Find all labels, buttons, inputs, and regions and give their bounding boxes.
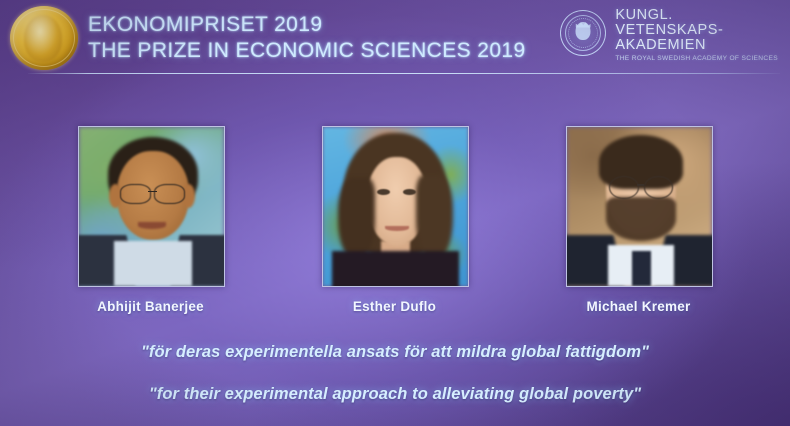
academy-line-2: VETENSKAPS- [615, 23, 778, 38]
portrait-photo-abhijit-banerjee [78, 126, 225, 287]
portrait-1-glasses-right [154, 184, 185, 203]
citation-english: "for their experimental approach to alle… [0, 385, 790, 404]
laureate-name-2: Esther Duflo [322, 299, 467, 314]
academy-subtitle: THE ROYAL SWEDISH ACADEMY OF SCIENCES [615, 55, 778, 62]
royal-swedish-academy-seal-icon [560, 10, 606, 56]
portrait-1-glasses-left [120, 184, 151, 203]
portrait-3-glasses-bridge [637, 184, 644, 186]
portrait-1-shirt [114, 241, 192, 286]
title-line-swedish: EKONOMIPRISET 2019 [88, 14, 526, 37]
portrait-photo-michael-kremer [566, 126, 713, 287]
portrait-1-mouth [138, 222, 166, 228]
laureate-name-1: Abhijit Banerjee [78, 299, 223, 314]
laureate-card-1: Abhijit Banerjee [78, 126, 225, 314]
portrait-2-hair-left [338, 178, 376, 261]
portrait-3-tie [632, 251, 651, 286]
academy-name-block: KUNGL. VETENSKAPS- AKADEMIEN THE ROYAL S… [615, 8, 778, 62]
medal-rim [13, 9, 75, 67]
academy-line-3: AKADEMIEN [615, 38, 778, 53]
page-title: EKONOMIPRISET 2019 THE PRIZE IN ECONOMIC… [88, 14, 526, 62]
nobel-gold-medal-icon [10, 6, 78, 70]
portrait-3-glasses-left [609, 176, 639, 199]
laureate-card-3: Michael Kremer [566, 126, 713, 314]
portrait-2-clothing [332, 251, 460, 287]
nobel-prize-announcement-slide: EKONOMIPRISET 2019 THE PRIZE IN ECONOMIC… [0, 0, 790, 426]
portrait-3-glasses-right [644, 176, 674, 199]
academy-line-1: KUNGL. [615, 8, 778, 23]
title-line-english: THE PRIZE IN ECONOMIC SCIENCES 2019 [88, 40, 526, 63]
header-divider [28, 73, 780, 74]
portrait-photo-esther-duflo [322, 126, 469, 287]
portrait-2-hair-right [416, 175, 454, 261]
portrait-1-glasses-bridge [148, 191, 157, 193]
laureate-name-3: Michael Kremer [566, 299, 711, 314]
seal-bust-figure [576, 22, 591, 40]
academy-branding: KUNGL. VETENSKAPS- AKADEMIEN THE ROYAL S… [560, 8, 778, 62]
laureate-card-2: Esther Duflo [322, 126, 469, 314]
citation-swedish: "för deras experimentella ansats för att… [0, 343, 790, 362]
